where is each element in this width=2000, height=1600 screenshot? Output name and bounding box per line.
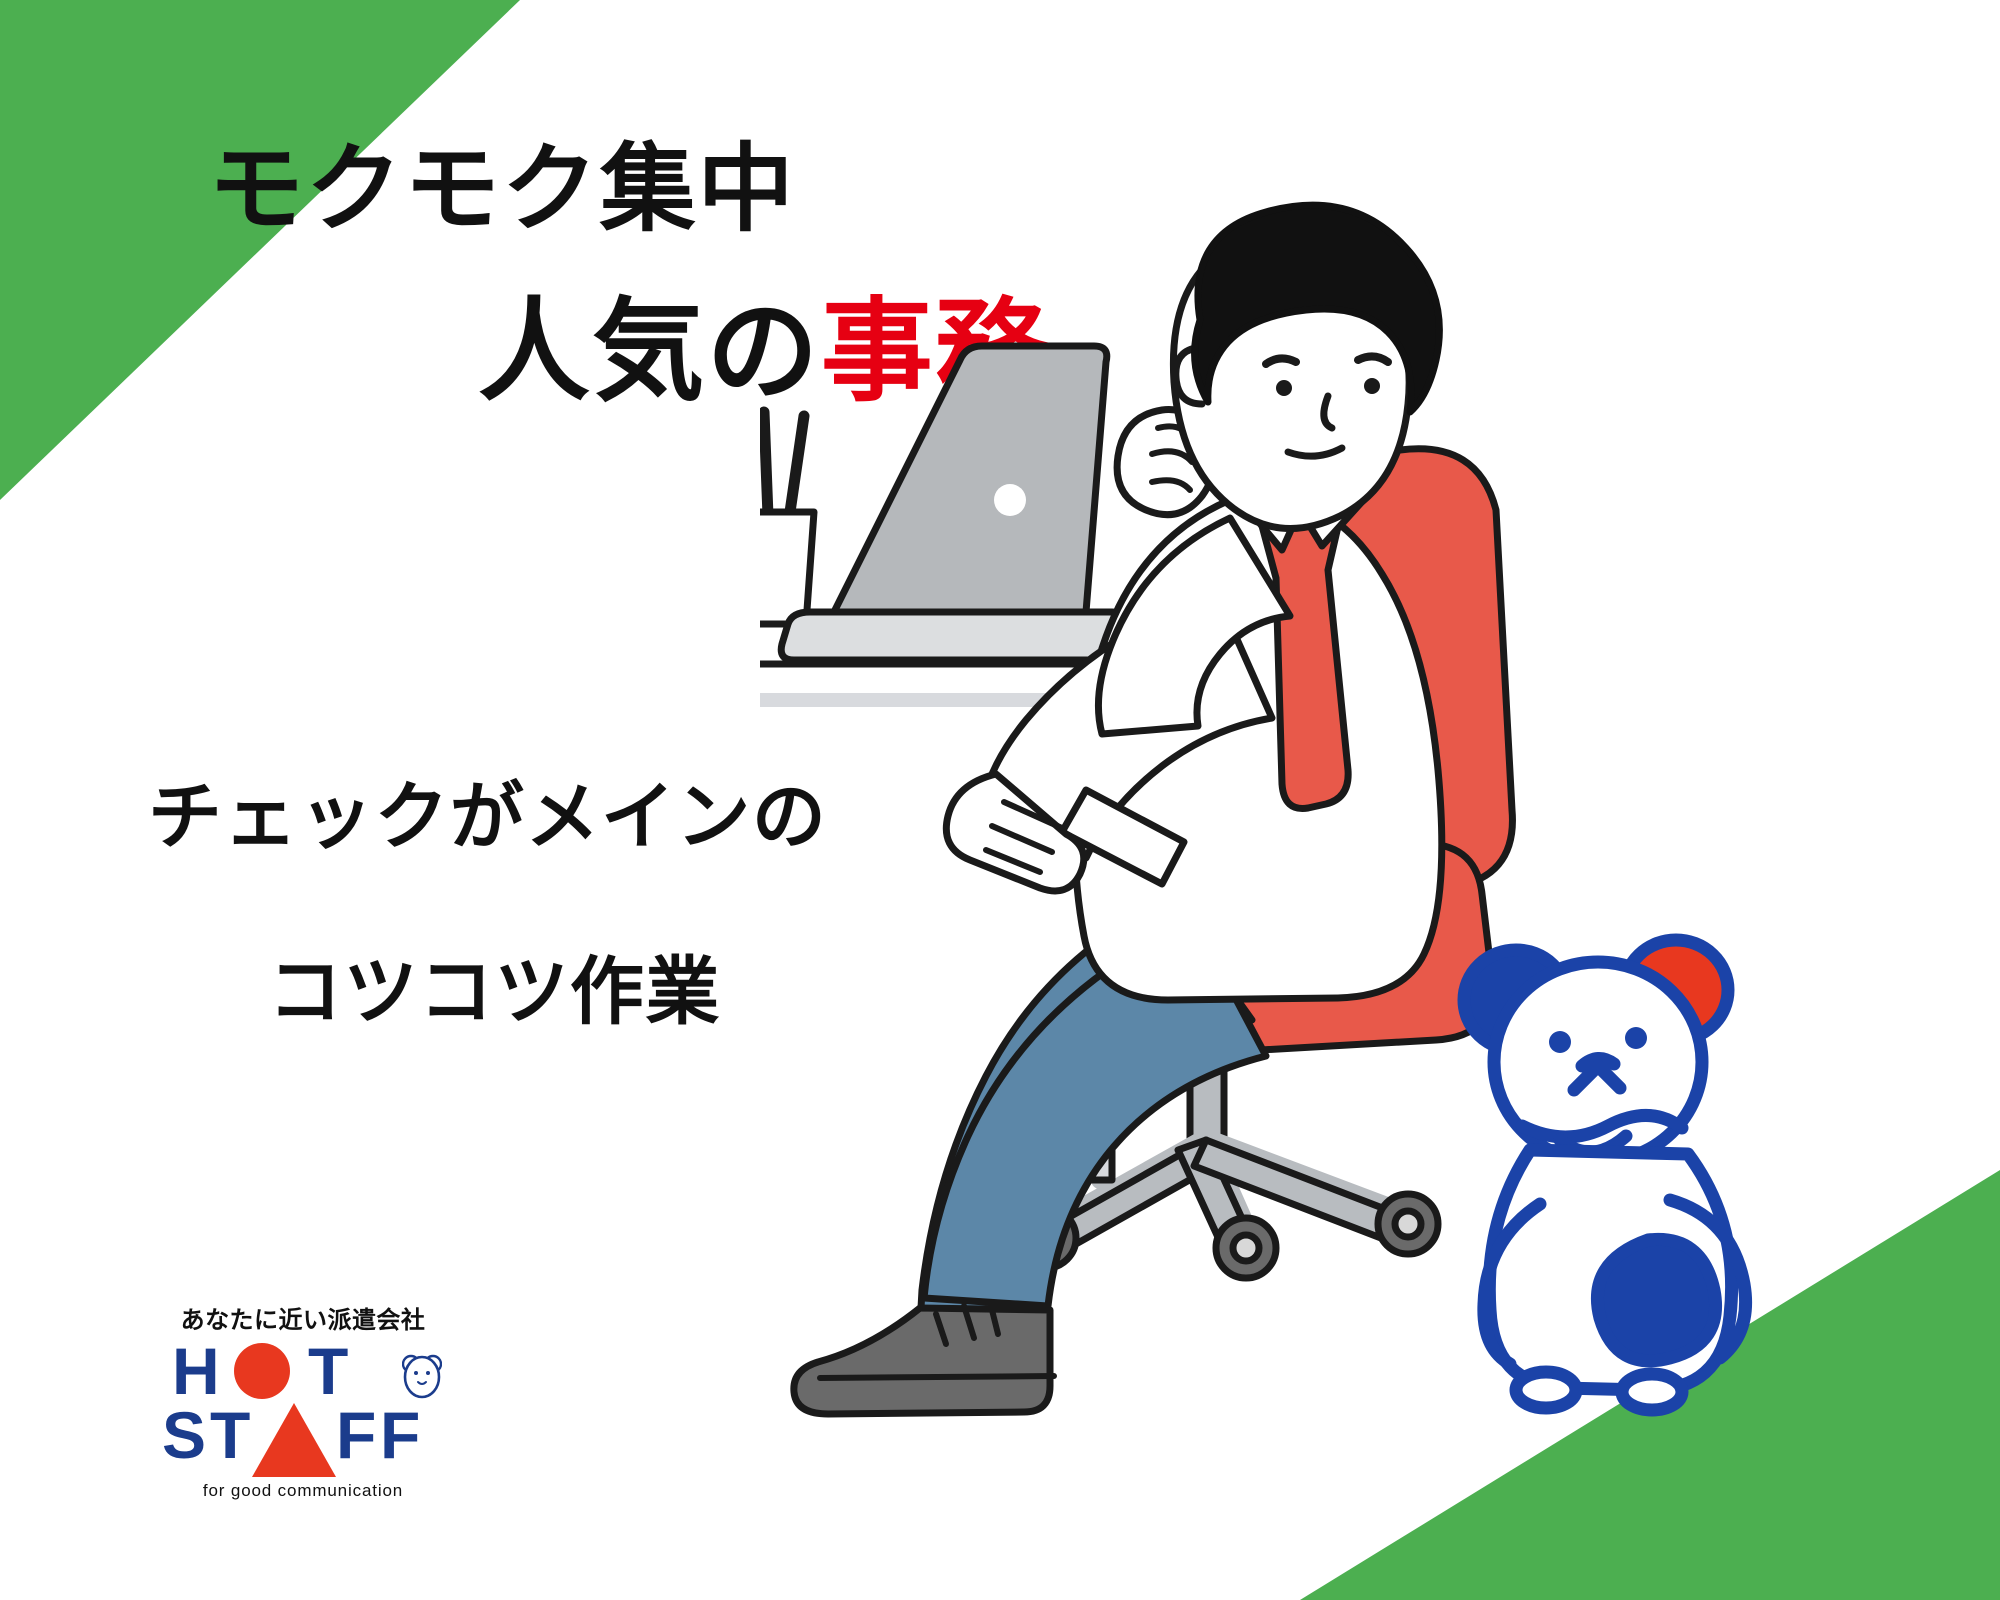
pen-cup-icon	[760, 406, 814, 624]
headline-line-1: モクモク集中	[208, 142, 796, 238]
poster-canvas: モクモク集中 人気の事務 チェックがメインの コツコツ作業 あなたに近い派遣会社…	[0, 0, 2000, 1600]
logo-bear-icon	[402, 1351, 442, 1403]
company-logo: あなたに近い派遣会社 H T S T F F	[158, 1300, 448, 1501]
laptop-icon	[781, 346, 1143, 660]
logo-letter-f2: F	[380, 1405, 420, 1465]
subhead-line-1: チェックがメインの	[148, 780, 827, 854]
subhead-line-2: コツコツ作業	[268, 955, 721, 1029]
logo-wordmark: H T S T F F	[168, 1341, 438, 1473]
logo-letter-f1: F	[336, 1405, 376, 1465]
logo-letter-h: H	[172, 1341, 220, 1401]
logo-letter-t: T	[308, 1341, 348, 1401]
logo-tagline: あなたに近い派遣会社	[158, 1300, 448, 1335]
illustration-svg	[760, 200, 2000, 1540]
illustration-businessman-at-desk	[760, 200, 2000, 1540]
businessman-figure	[794, 205, 1442, 1414]
mascot-bear-character	[1464, 940, 1746, 1410]
logo-red-triangle	[252, 1403, 336, 1477]
shoe-icon	[794, 1302, 1054, 1414]
logo-footer-text: for good communication	[158, 1481, 448, 1501]
green-corner-top-left	[0, 0, 520, 500]
logo-red-circle	[234, 1343, 290, 1399]
logo-letter-s: S	[162, 1405, 206, 1465]
logo-letter-t2: T	[210, 1405, 250, 1465]
